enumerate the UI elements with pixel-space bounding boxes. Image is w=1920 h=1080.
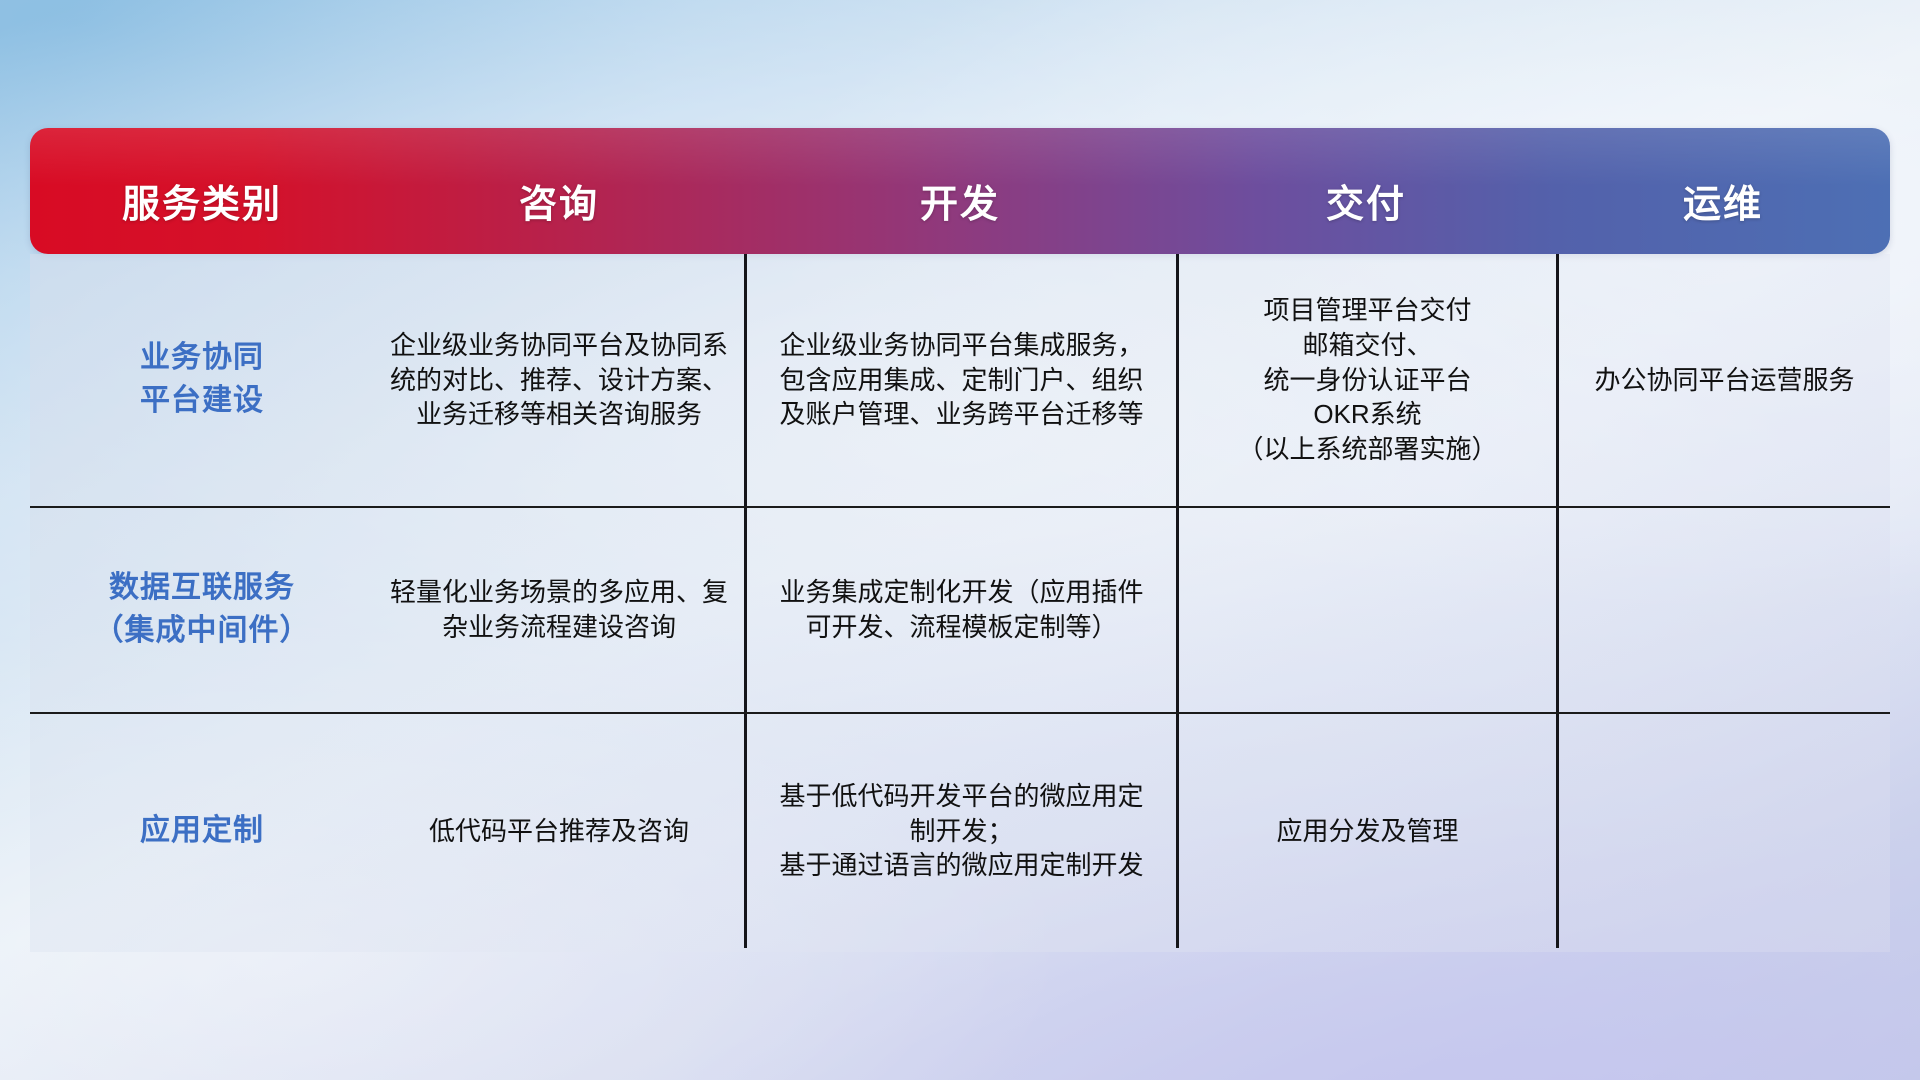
row-consulting-cell: 企业级业务协同平台及协同系 统的对比、推荐、设计方案、 业务迁移等相关咨询服务 — [374, 254, 744, 506]
row-operations-cell — [1556, 508, 1890, 712]
row-operations-cell: 办公协同平台运营服务 — [1556, 254, 1890, 506]
table-row: 应用定制 低代码平台推荐及咨询 基于低代码开发平台的微应用定 制开发； 基于通过… — [30, 714, 1890, 948]
table-row: 业务协同 平台建设 企业级业务协同平台及协同系 统的对比、推荐、设计方案、 业务… — [30, 254, 1890, 508]
table-body: 业务协同 平台建设 企业级业务协同平台及协同系 统的对比、推荐、设计方案、 业务… — [30, 254, 1890, 952]
row-consulting-cell: 低代码平台推荐及咨询 — [374, 714, 744, 948]
table-header-cell-delivery: 交付 — [1176, 173, 1556, 254]
row-category-label: 业务协同 平台建设 — [30, 254, 374, 506]
table-header-row: 服务类别 咨询 开发 交付 运维 — [30, 128, 1890, 254]
row-development-cell: 业务集成定制化开发（应用插件 可开发、流程模板定制等） — [744, 508, 1176, 712]
service-category-table: 服务类别 咨询 开发 交付 运维 业务协同 平台建设 企业级业务协同平台及协同系… — [30, 128, 1890, 952]
row-delivery-cell: 项目管理平台交付 邮箱交付、 统一身份认证平台 OKR系统 （以上系统部署实施） — [1176, 254, 1556, 506]
row-category-label: 数据互联服务 （集成中间件） — [30, 508, 374, 712]
table-header-cell-operations: 运维 — [1556, 173, 1890, 254]
row-delivery-cell — [1176, 508, 1556, 712]
table-header-cell-consulting: 咨询 — [374, 173, 744, 254]
table-header-cell-development: 开发 — [744, 173, 1176, 254]
row-operations-cell — [1556, 714, 1890, 948]
row-delivery-cell: 应用分发及管理 — [1176, 714, 1556, 948]
row-development-cell: 企业级业务协同平台集成服务， 包含应用集成、定制门户、组织 及账户管理、业务跨平… — [744, 254, 1176, 506]
row-consulting-cell: 轻量化业务场景的多应用、复 杂业务流程建设咨询 — [374, 508, 744, 712]
row-category-label: 应用定制 — [30, 714, 374, 948]
row-development-cell: 基于低代码开发平台的微应用定 制开发； 基于通过语言的微应用定制开发 — [744, 714, 1176, 948]
table-row: 数据互联服务 （集成中间件） 轻量化业务场景的多应用、复 杂业务流程建设咨询 业… — [30, 508, 1890, 714]
table-header-cell-service-category: 服务类别 — [30, 173, 374, 254]
